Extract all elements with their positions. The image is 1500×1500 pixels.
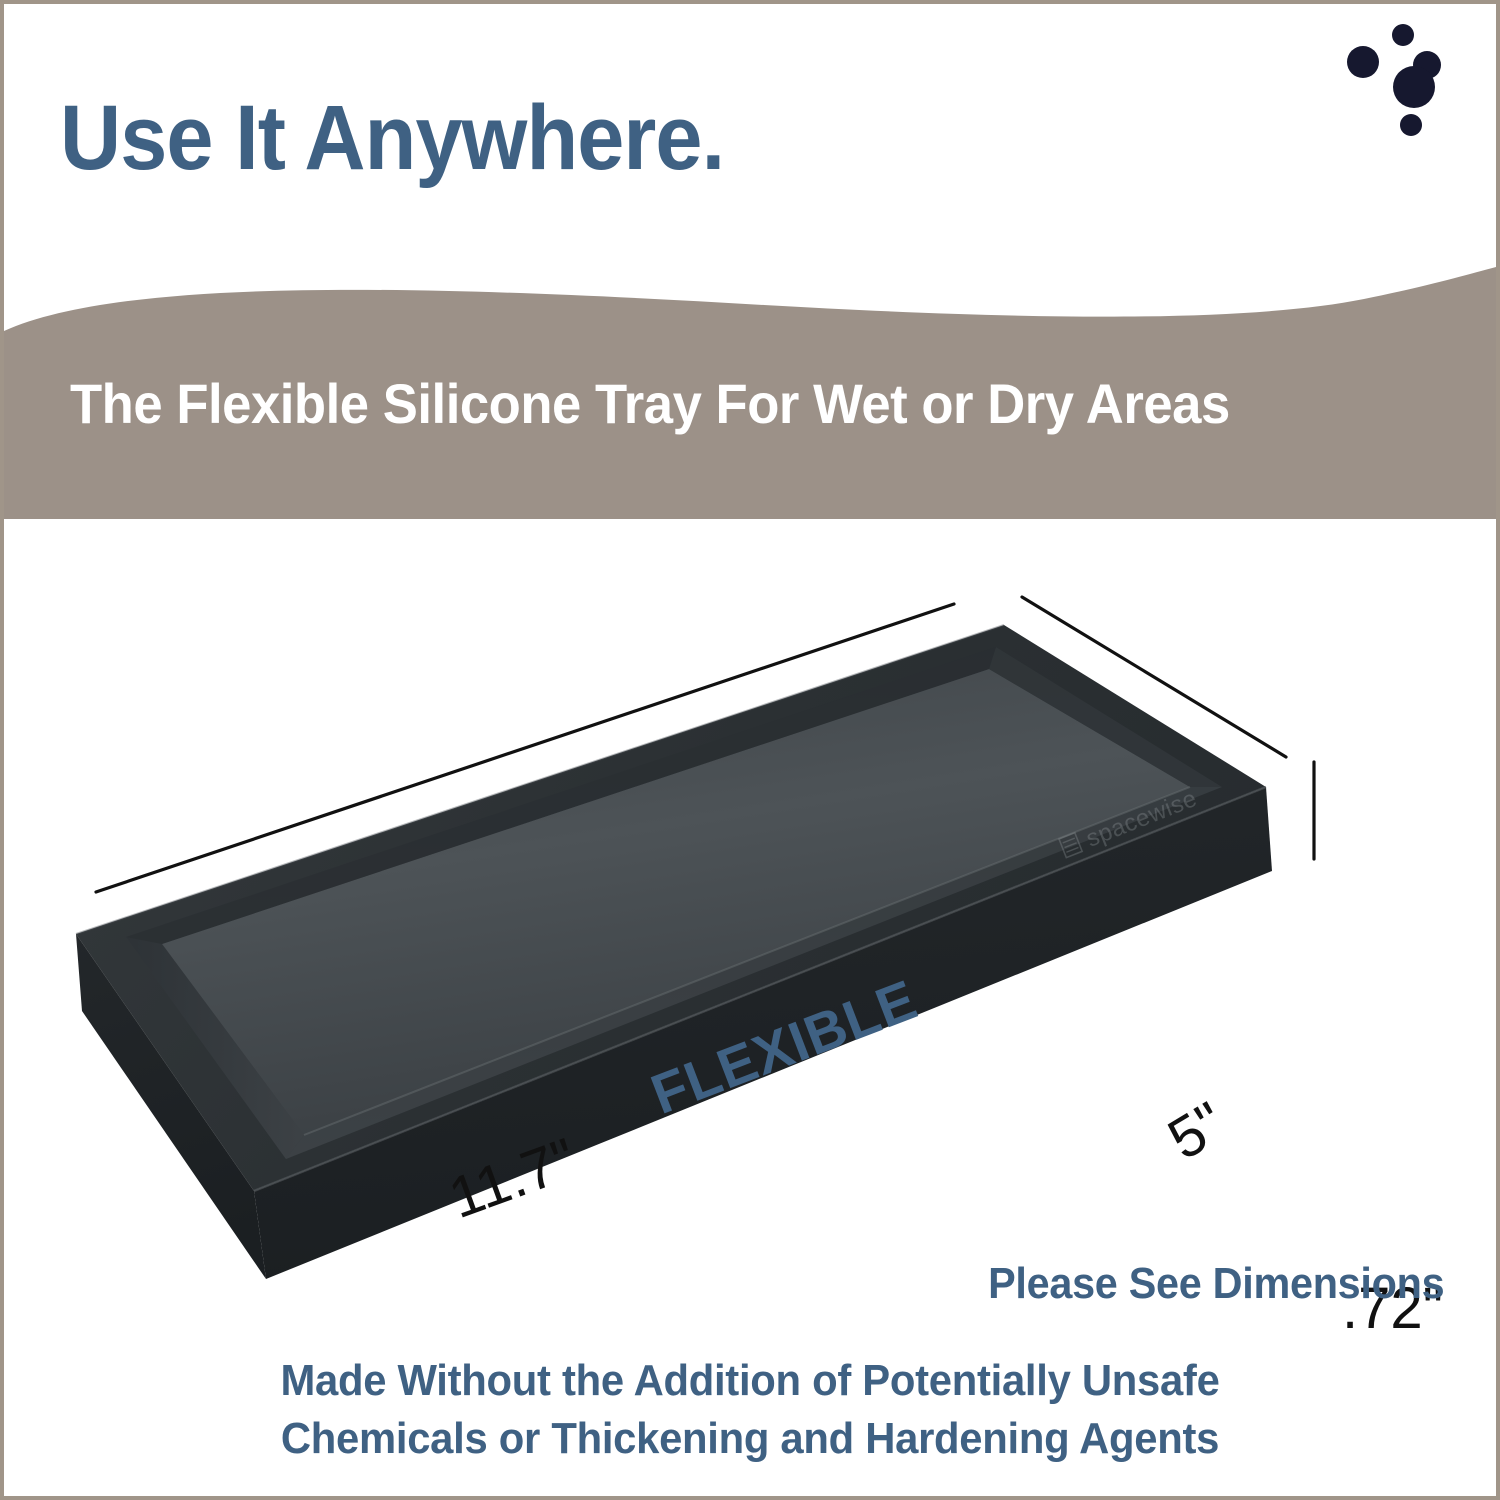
banner-subtitle: The Flexible Silicone Tray For Wet or Dr… bbox=[70, 371, 1230, 436]
disclaimer-line-1: Made Without the Addition of Potentially… bbox=[41, 1352, 1458, 1410]
decorative-dot-4 bbox=[1393, 66, 1435, 108]
product-illustration: spacewise 11.7" 5" .72" bbox=[4, 519, 1496, 1279]
product-marketing-image: Use It Anywhere. The Flexible Silicone T… bbox=[0, 0, 1500, 1500]
dot-cluster-decoration bbox=[1359, 29, 1500, 179]
page-title: Use It Anywhere. bbox=[60, 92, 724, 184]
subtitle-banner: The Flexible Silicone Tray For Wet or Dr… bbox=[4, 259, 1496, 519]
decorative-dot-5 bbox=[1400, 114, 1422, 136]
dimensions-note: Please See Dimensions bbox=[988, 1259, 1444, 1309]
decorative-dot-1 bbox=[1392, 24, 1414, 46]
tray-render: spacewise bbox=[4, 519, 1496, 1279]
disclaimer-line-2: Chemicals or Thickening and Hardening Ag… bbox=[41, 1410, 1458, 1468]
decorative-dot-2 bbox=[1347, 46, 1379, 78]
safety-disclaimer: Made Without the Addition of Potentially… bbox=[4, 1352, 1496, 1468]
